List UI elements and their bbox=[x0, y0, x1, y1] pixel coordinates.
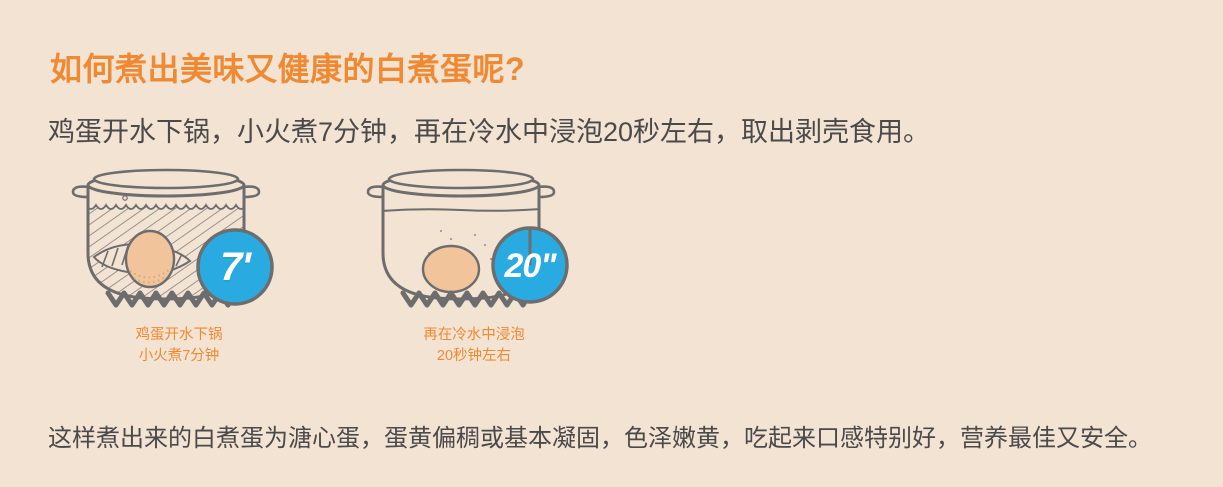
pot-rim-icon bbox=[88, 170, 244, 196]
egg-icon bbox=[423, 246, 479, 292]
step-boil-caption-line-1: 鸡蛋开水下锅 bbox=[64, 325, 294, 346]
step-soak-caption-line-2: 20秒钟左右 bbox=[359, 346, 589, 367]
footnote-paragraph: 这样煮出来的白煮蛋为溏心蛋，蛋黄偏稠或基本凝固，色泽嫩黄，吃起来口感特别好，营养… bbox=[48, 418, 1152, 453]
timer-badge-label-7: 7' bbox=[198, 230, 272, 304]
timer-badge-label-20: 20" bbox=[491, 231, 569, 301]
step-soak-illustration: 20" bbox=[359, 165, 589, 315]
step-boil-caption-line-2: 小火煮7分钟 bbox=[64, 346, 294, 367]
steps-row: 7' 鸡蛋开水下锅 小火煮7分钟 bbox=[64, 165, 624, 385]
egg-icon bbox=[126, 231, 174, 287]
step-boil-illustration: 7' bbox=[64, 165, 294, 315]
step-soak: 20" 再在冷水中浸泡 20秒钟左右 bbox=[359, 165, 589, 385]
step-soak-caption: 再在冷水中浸泡 20秒钟左右 bbox=[359, 325, 589, 367]
step-boil: 7' 鸡蛋开水下锅 小火煮7分钟 bbox=[64, 165, 294, 385]
infographic-page: 如何煮出美味又健康的白煮蛋呢? 鸡蛋开水下锅，小火煮7分钟，再在冷水中浸泡20秒… bbox=[0, 0, 1223, 487]
step-soak-caption-line-1: 再在冷水中浸泡 bbox=[359, 325, 589, 346]
bubble-icon bbox=[123, 196, 127, 200]
page-title: 如何煮出美味又健康的白煮蛋呢? bbox=[50, 44, 525, 90]
pot-rim-icon bbox=[383, 170, 539, 196]
lead-paragraph: 鸡蛋开水下锅，小火煮7分钟，再在冷水中浸泡20秒左右，取出剥壳食用。 bbox=[48, 110, 930, 149]
step-boil-caption: 鸡蛋开水下锅 小火煮7分钟 bbox=[64, 325, 294, 367]
cold-water-line-icon bbox=[381, 209, 541, 211]
